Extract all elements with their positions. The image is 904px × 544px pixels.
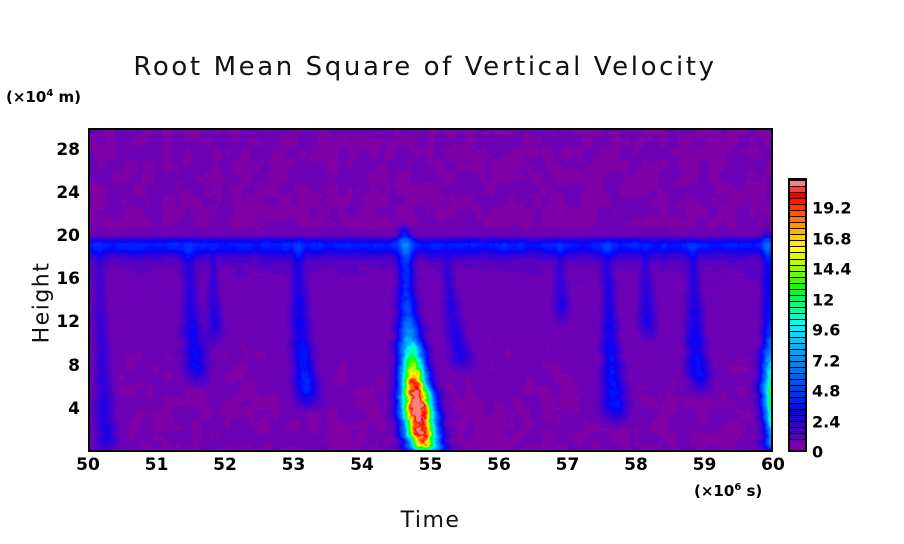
colorbar-tick-label: 0: [812, 443, 823, 462]
y-tick-label: 28: [56, 140, 80, 160]
x-tick-label: 53: [282, 455, 306, 475]
x-axis-label: Time: [88, 508, 773, 533]
colorbar-tick-label: 9.6: [812, 321, 840, 340]
colorbar-tick-label: 7.2: [812, 351, 840, 370]
colorbar-tick-label: 19.2: [812, 199, 851, 218]
chart-title: Root Mean Square of Vertical Velocity: [0, 52, 850, 82]
colorbar-tick-label: 12: [812, 290, 834, 309]
colorbar-segment: [790, 445, 805, 450]
y-tick-label: 12: [56, 312, 80, 332]
figure-canvas: Root Mean Square of Vertical Velocity (×…: [0, 0, 904, 544]
x-tick-label: 50: [76, 455, 100, 475]
x-tick-label: 51: [145, 455, 169, 475]
y-axis-unit-label: (×104 m): [6, 88, 81, 106]
y-tick-label: 16: [56, 269, 80, 289]
colorbar-tick-label: 4.8: [812, 382, 840, 401]
x-tick-label: 57: [556, 455, 580, 475]
x-tick-label: 56: [487, 455, 511, 475]
colorbar-tick-label: 14.4: [812, 260, 851, 279]
y-axis-label: Height: [30, 243, 55, 363]
y-tick-label: 4: [68, 399, 80, 419]
x-axis-unit-label: (×106 s): [694, 482, 762, 500]
x-tick-label: 55: [419, 455, 443, 475]
y-tick-label: 8: [68, 356, 80, 376]
colorbar-tick-label: 16.8: [812, 229, 851, 248]
colorbar-tick-labels: 02.44.87.29.61214.416.819.2: [812, 178, 882, 452]
y-tick-label: 24: [56, 183, 80, 203]
x-tick-label: 54: [350, 455, 374, 475]
x-tick-label: 58: [624, 455, 648, 475]
x-tick-label: 60: [761, 455, 785, 475]
heatmap-plot-area: [88, 128, 773, 452]
x-tick-label: 52: [213, 455, 237, 475]
heatmap-image: [90, 130, 771, 450]
x-tick-label: 59: [693, 455, 717, 475]
colorbar-tick-label: 2.4: [812, 412, 840, 431]
y-tick-label: 20: [56, 226, 80, 246]
colorbar: [788, 178, 807, 452]
